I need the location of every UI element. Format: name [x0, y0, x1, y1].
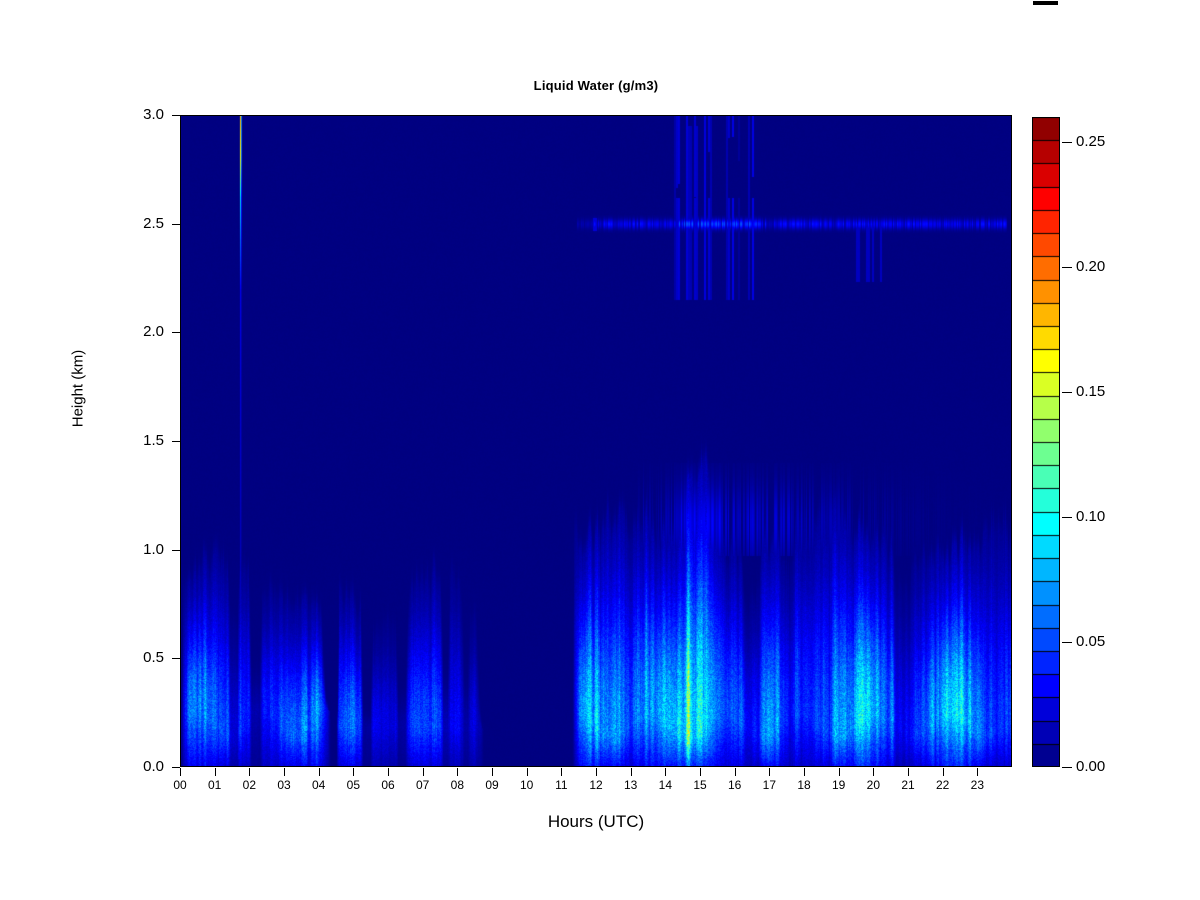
x-tick-mark — [388, 768, 389, 776]
x-tick-label: 13 — [616, 778, 646, 792]
x-tick-label: 19 — [824, 778, 854, 792]
colorbar-tick-mark — [1062, 392, 1072, 393]
x-tick-mark — [353, 768, 354, 776]
x-tick-mark — [700, 768, 701, 776]
x-tick-mark — [457, 768, 458, 776]
x-tick-mark — [215, 768, 216, 776]
y-tick-label: 1.0 — [118, 541, 164, 558]
colorbar-tick-label: 0.05 — [1076, 633, 1105, 650]
x-tick-label: 22 — [928, 778, 958, 792]
x-tick-mark — [665, 768, 666, 776]
x-tick-mark — [423, 768, 424, 776]
x-tick-label: 08 — [442, 778, 472, 792]
y-tick-label: 0.0 — [118, 758, 164, 775]
y-tick-mark — [172, 224, 180, 225]
x-tick-label: 23 — [962, 778, 992, 792]
colorbar-tick-mark — [1062, 517, 1072, 518]
x-tick-label: 01 — [200, 778, 230, 792]
x-tick-mark — [873, 768, 874, 776]
y-axis-label: Height (km) — [70, 309, 87, 469]
x-tick-label: 16 — [720, 778, 750, 792]
x-tick-label: 07 — [408, 778, 438, 792]
x-tick-mark — [319, 768, 320, 776]
y-tick-mark — [172, 115, 180, 116]
x-tick-label: 09 — [477, 778, 507, 792]
x-tick-mark — [180, 768, 181, 776]
colorbar-tick-mark — [1062, 642, 1072, 643]
x-tick-label: 05 — [338, 778, 368, 792]
x-tick-label: 18 — [789, 778, 819, 792]
x-tick-label: 17 — [754, 778, 784, 792]
x-tick-label: 20 — [858, 778, 888, 792]
x-axis-label: Hours (UTC) — [180, 812, 1012, 832]
x-tick-label: 00 — [165, 778, 195, 792]
chart-title: Liquid Water (g/m3) — [180, 78, 1012, 93]
x-tick-mark — [249, 768, 250, 776]
x-tick-label: 15 — [685, 778, 715, 792]
x-tick-mark — [527, 768, 528, 776]
y-tick-label: 2.5 — [118, 215, 164, 232]
x-tick-mark — [943, 768, 944, 776]
x-tick-label: 02 — [234, 778, 264, 792]
x-tick-mark — [561, 768, 562, 776]
y-tick-label: 3.0 — [118, 106, 164, 123]
y-tick-label: 0.5 — [118, 649, 164, 666]
y-tick-mark — [172, 658, 180, 659]
colorbar-tick-label: 0.15 — [1076, 383, 1105, 400]
y-tick-mark — [172, 441, 180, 442]
colorbar[interactable] — [1032, 117, 1060, 767]
colorbar-tick-mark — [1062, 142, 1072, 143]
x-tick-label: 14 — [650, 778, 680, 792]
colorbar-tick-label: 0.10 — [1076, 508, 1105, 525]
x-tick-mark — [492, 768, 493, 776]
colorbar-tick-mark — [1062, 267, 1072, 268]
x-tick-mark — [596, 768, 597, 776]
x-tick-label: 04 — [304, 778, 334, 792]
y-tick-mark — [172, 332, 180, 333]
y-tick-label: 1.5 — [118, 432, 164, 449]
x-tick-label: 10 — [512, 778, 542, 792]
x-tick-mark — [977, 768, 978, 776]
figure-canvas: Liquid Water (g/m3) Height (km) Hours (U… — [0, 0, 1200, 900]
colorbar-tick-mark — [1062, 767, 1072, 768]
x-tick-label: 11 — [546, 778, 576, 792]
x-tick-mark — [284, 768, 285, 776]
colorbar-tick-label: 0.20 — [1076, 258, 1105, 275]
x-tick-mark — [769, 768, 770, 776]
y-tick-mark — [172, 550, 180, 551]
x-tick-label: 12 — [581, 778, 611, 792]
heatmap-plot-area[interactable] — [180, 115, 1012, 767]
y-tick-label: 2.0 — [118, 323, 164, 340]
x-tick-mark — [804, 768, 805, 776]
x-tick-mark — [735, 768, 736, 776]
x-tick-mark — [908, 768, 909, 776]
x-tick-mark — [631, 768, 632, 776]
x-tick-label: 06 — [373, 778, 403, 792]
top-edge-artifact — [1033, 1, 1058, 5]
colorbar-tick-label: 0.25 — [1076, 133, 1105, 150]
colorbar-tick-label: 0.00 — [1076, 758, 1105, 775]
x-tick-mark — [839, 768, 840, 776]
x-tick-label: 03 — [269, 778, 299, 792]
y-tick-mark — [172, 767, 180, 768]
x-tick-label: 21 — [893, 778, 923, 792]
